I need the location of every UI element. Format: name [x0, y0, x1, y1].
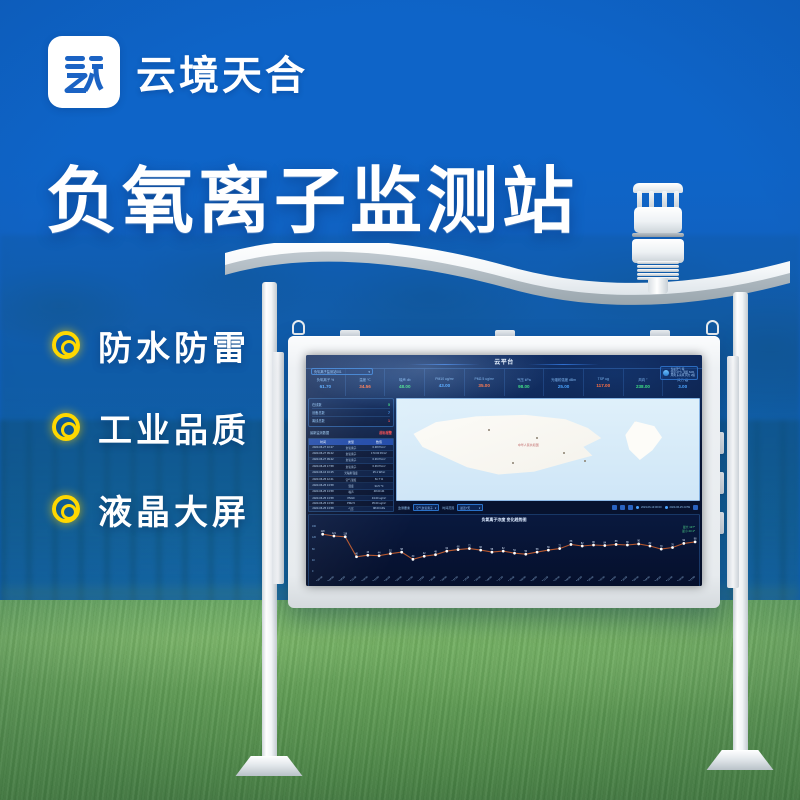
chart-point: [434, 553, 437, 556]
chart-point-label: 40: [355, 553, 358, 556]
weather-icon: [663, 370, 669, 376]
x-tick-label: 06-22 06:00: [482, 576, 493, 581]
more-button[interactable]: [693, 505, 698, 510]
range-select[interactable]: 最近7天 ▾: [457, 504, 483, 511]
chart-point-label: 44: [378, 551, 381, 554]
table-cell: 2023-06-26 17:58: [309, 464, 337, 469]
x-tick-label: 06-20 18:00: [414, 576, 425, 581]
metric-value: 117.00: [596, 383, 610, 388]
range-select-value: 最近7天: [460, 506, 470, 510]
table-cell: 2023-06-25 13:58: [309, 501, 337, 505]
x-tick-label: 06-19 04:00: [324, 576, 335, 581]
chart-point-label: 58: [491, 548, 494, 551]
metric-value: 25.00: [558, 384, 570, 389]
x-tick-label: 06-24 08:00: [584, 576, 595, 581]
table-cell: 2023-06-25 13:58: [309, 507, 337, 512]
chart-point-label: 30: [412, 555, 415, 558]
table-cell: 负氧离子: [337, 458, 365, 463]
table-cell: 2023-06-25 13:58: [309, 496, 337, 500]
metric-cell: 风向 ° 238.00: [624, 369, 664, 396]
table-cell: 0.36 P/cm³: [365, 464, 393, 469]
chart-point-label: 98: [694, 538, 697, 541]
table-cell: 负氧离子: [337, 464, 365, 469]
chart-point: [468, 547, 471, 550]
chart-point-label: 62: [446, 547, 449, 550]
chart-point-label: 88: [570, 540, 573, 543]
legend-entry: 2023-06-19 00:00: [636, 506, 661, 509]
chart-point: [513, 552, 516, 555]
metric-label: PM10 ug/m³: [435, 377, 453, 381]
table-cell: 43.00 ug/m³: [365, 496, 393, 500]
chart-point: [445, 550, 448, 553]
x-tick-label: 06-19 08:00: [335, 576, 346, 581]
metric-value: 238.00: [636, 384, 650, 389]
table-cell: 25.1 W/m²: [365, 471, 393, 476]
chart-point-label: 118: [343, 533, 347, 536]
chart-point: [615, 543, 618, 546]
table-body: 2023-06-27 10:27负氧离子0.38 P/cm³2023-06-27…: [309, 445, 393, 512]
x-tick-label: 06-20 00:00: [381, 576, 392, 581]
legend-label: 2023-06-25 23:59: [670, 506, 690, 509]
x-tick-label: 06-20 12:00: [403, 576, 414, 581]
metric-value: 43.00: [439, 383, 451, 388]
legend-swatch: [636, 506, 639, 509]
chart-point-label: 86: [592, 541, 595, 544]
feature-label: 工业品质: [98, 403, 250, 452]
table-cell: PM10: [337, 496, 365, 500]
chart-point-label: 76: [671, 543, 674, 546]
side-rail-left: [272, 352, 284, 584]
table-cell: 98.00 kPa: [365, 507, 393, 512]
chart-toolbar: 监测要素 空气负氧离子 ▾ 时间范围 最近7天 ▾: [396, 503, 700, 512]
chart-point: [649, 545, 652, 548]
table-cell: 噪声: [337, 490, 365, 495]
chart-point: [547, 549, 550, 552]
x-tick-label: 06-19 00:00: [313, 576, 324, 581]
metric-cell: PM2.5 ug/m³ 35.00: [465, 369, 505, 396]
device-stats: 在线数 5 设备总数 7 离线总数 1: [308, 398, 394, 427]
brand-name: 云境天合: [136, 43, 308, 101]
chart-point: [479, 549, 482, 552]
chart-point: [524, 553, 527, 556]
table-cell: 35.00 ug/m³: [365, 501, 393, 505]
dashboard-body: 在线数 5 设备总数 7 离线总数 1 最新监测数据: [306, 396, 702, 514]
sensor-ring: [632, 233, 684, 237]
metric-value: 34.56: [359, 384, 371, 389]
metric-value: 98.00: [518, 384, 530, 389]
legend-min-value: 最小 23.1*: [682, 529, 695, 533]
chevron-down-icon: ▾: [479, 506, 480, 510]
measurement-table: 时间 类型 数值 2023-06-27 10:27负氧离子0.38 P/cm³2…: [308, 438, 394, 512]
x-tick-label: 06-23 12:00: [539, 576, 550, 581]
lifting-eye-right: [706, 320, 719, 335]
table-cell: 空气湿度: [337, 477, 365, 482]
ring-bullet-icon: [52, 331, 80, 359]
x-tick-label: 06-24 12:00: [595, 576, 606, 581]
metric-label: 风向 °: [638, 377, 647, 382]
station-map[interactable]: 中华人民共和国: [396, 398, 700, 501]
metric-value: 3.00: [678, 384, 687, 389]
x-tick-label: 06-24 16:00: [606, 576, 617, 581]
chart-point: [694, 540, 697, 543]
chart-point: [558, 547, 561, 550]
chart-point-label: 58: [400, 548, 403, 551]
chart-point: [321, 533, 324, 536]
lcd-screen: 云平台 负氧离子监测站001 ▾ 当前天气 晴 温度 27℃ 湿度 64% 风向…: [306, 355, 702, 586]
chart-point: [536, 551, 539, 554]
x-tick-label: 06-25 16:00: [674, 576, 685, 581]
x-tick-label: 06-21 12:00: [448, 576, 459, 581]
table-cell: 2023-06-27 09:42: [309, 451, 337, 456]
x-tick-label: 06-23 00:00: [516, 576, 527, 581]
lcd-display-cabinet: 云平台 负氧离子监测站001 ▾ 当前天气 晴 温度 27℃ 湿度 64% 风向…: [288, 336, 720, 608]
radiation-shield-fins: [637, 261, 679, 279]
stat-row: 在线数 5: [312, 401, 390, 409]
table-cell: 2023-06-25 13:58: [309, 490, 337, 495]
chart-point: [603, 544, 606, 547]
monitoring-dashboard: 云平台 负氧离子监测站001 ▾ 当前天气 晴 温度 27℃ 湿度 64% 风向…: [306, 355, 702, 586]
chart-point-label: 70: [660, 545, 663, 548]
chart-point-label: 82: [581, 542, 584, 545]
ultrasonic-weather-sensor: [625, 183, 691, 291]
station-select-value: 负氧离子监测站001: [314, 369, 342, 374]
chart-point: [355, 555, 358, 558]
x-tick-label: 06-22 18:00: [505, 576, 516, 581]
x-tick-label: 06-19 12:00: [347, 576, 358, 581]
metric-label: PM2.5 ug/m³: [474, 377, 493, 381]
wave-canopy: [225, 243, 790, 305]
chart-point: [344, 535, 347, 538]
metric-label: 光辐射强度 dBm: [551, 377, 576, 382]
x-tick-label: 06-23 18:00: [550, 576, 561, 581]
table-cell: 光辐射强度: [337, 471, 365, 476]
chart-point: [491, 551, 494, 554]
chart-point-label: 58: [536, 548, 539, 551]
chart-point: [660, 548, 663, 551]
param-select[interactable]: 空气负氧离子 ▾: [413, 504, 439, 511]
x-tick-label: 06-19 20:00: [369, 576, 380, 581]
chart-point-label: 54: [513, 549, 516, 552]
weather-line-3: 风向 东南风 风力 2级: [671, 374, 695, 377]
chart-point: [366, 554, 369, 557]
stat-row: 设备总数 7: [312, 409, 390, 417]
lifting-eye-left: [292, 320, 305, 335]
x-tick-label: 06-25 04:00: [640, 576, 651, 581]
right-panel: 中华人民共和国 监测要素 空气负氧离子 ▾ 时间范围: [396, 398, 700, 512]
company-logo-mark: [48, 36, 120, 108]
dashboard-header: 云平台 负氧离子监测站001 ▾ 当前天气 晴 温度 27℃ 湿度 64% 风向…: [306, 355, 702, 368]
chart-point: [333, 535, 336, 538]
table-header-row: 最新监测数据 超标报警: [308, 429, 394, 436]
x-tick-label: 06-21 06:00: [437, 576, 448, 581]
chart-point-label: 86: [626, 541, 629, 544]
metric-value: 61.70: [320, 384, 332, 389]
x-tick-label: 06-25 08:00: [651, 576, 662, 581]
range-label: 时间范围: [442, 506, 454, 510]
table-cell: 48.00 db: [365, 490, 393, 495]
chart-point: [592, 544, 595, 547]
table-cell: 34.5 ℃: [365, 483, 393, 488]
chart-point: [389, 552, 392, 555]
stat-key: 在线数: [312, 402, 322, 407]
x-tick-label: 06-23 06:00: [527, 576, 538, 581]
chart-point: [570, 543, 573, 546]
x-tick-label: 06-24 00:00: [561, 576, 572, 581]
stat-key: 设备总数: [312, 410, 325, 415]
x-tick-label: 06-25 00:00: [629, 576, 640, 581]
x-tick-label: 06-22 00:00: [471, 576, 482, 581]
chart-point: [457, 548, 460, 551]
x-tick-label: 06-25 12:00: [663, 576, 674, 581]
chart-point-label: 66: [547, 546, 550, 549]
chart-point-label: 88: [615, 540, 618, 543]
stat-row: 离线总数 1: [312, 417, 390, 424]
table-cell: PM2.5: [337, 501, 365, 505]
table-cell: 2023-06-25 12:41: [309, 477, 337, 482]
chart-point: [502, 550, 505, 553]
param-label: 监测要素: [398, 506, 410, 510]
chart-point-label: 66: [479, 546, 482, 549]
table-cell: 0.38 P/cm³: [365, 445, 393, 450]
table-cell: 2023-06-27 09:42: [309, 458, 337, 463]
station-select[interactable]: 负氧离子监测站001 ▾: [311, 368, 373, 375]
feature-label: 防水防雷: [98, 321, 250, 370]
stat-value: 5: [388, 403, 390, 407]
chart-point-label: 92: [683, 539, 686, 542]
table-row[interactable]: 2023-06-25 13:58气压98.00 kPa: [309, 507, 393, 512]
x-tick-label: 06-24 20:00: [618, 576, 629, 581]
x-tick-label: 06-20 06:00: [392, 576, 403, 581]
chart-point-label: 128: [321, 530, 326, 533]
chart-point: [671, 546, 674, 549]
metric-cell: PM10 ug/m³ 43.00: [425, 369, 465, 396]
sensor-upper-body: [634, 207, 682, 233]
chart-point-label: 46: [366, 551, 369, 554]
x-tick-label: 06-22 12:00: [493, 576, 504, 581]
map-country-label: 中华人民共和国: [518, 443, 539, 447]
table-cell: 0.36 P/cm³: [365, 458, 393, 463]
feature-item-industrial: 工业品质: [52, 404, 250, 450]
settings-button[interactable]: [628, 505, 633, 510]
page-title: 负氧离子监测站: [46, 142, 578, 247]
stat-value: 1: [388, 419, 390, 423]
chart-point: [378, 554, 381, 557]
ring-bullet-icon: [52, 495, 80, 523]
table-cell: 温度: [337, 483, 365, 488]
chart-point-label: 52: [389, 549, 392, 552]
metric-label: 噪声 db: [399, 377, 411, 382]
metric-label: 负氧离子 %: [317, 377, 335, 382]
chart-point-label: 90: [637, 540, 640, 543]
chart-point: [423, 555, 426, 558]
dashboard-title: 云平台: [306, 357, 702, 366]
table-cell: 173.00 P/cm³: [365, 451, 393, 456]
table-cell: 气压: [337, 507, 365, 512]
chart-point-label: 82: [649, 542, 652, 545]
table-cell: 2023-06-27 10:27: [309, 445, 337, 450]
table-cell: 61.7 %: [365, 477, 393, 482]
table-section-title: 最新监测数据: [310, 430, 329, 435]
stat-value: 7: [388, 411, 390, 415]
weather-badge: 当前天气 晴 温度 27℃ 湿度 64% 风向 东南风 风力 2级: [660, 366, 698, 380]
metric-cell: 噪声 db 48.00: [385, 369, 425, 396]
side-rail-right: [727, 356, 739, 588]
feature-item-waterproof: 防水防雷: [52, 322, 250, 368]
legend-label: 2023-06-19 00:00: [641, 506, 661, 509]
refresh-button[interactable]: [620, 505, 625, 510]
chart-plot-area: 12806-19 00:0012106-19 04:0011806-19 08:…: [309, 523, 699, 581]
chart-point-label: 50: [525, 550, 528, 553]
x-tick-label: 06-21 18:00: [460, 576, 471, 581]
chart-point-label: 42: [423, 552, 426, 555]
brand-header: 云境天合: [48, 36, 308, 108]
chart-point-label: 48: [434, 550, 437, 553]
chart-point-label: 72: [558, 544, 561, 547]
param-select-value: 空气负氧离子: [416, 506, 433, 510]
table-cell: 2023-06-25 13:58: [309, 483, 337, 488]
chart-point: [400, 551, 403, 554]
chart-point-label: 62: [502, 547, 505, 550]
x-tick-label: 06-25 23:59: [685, 576, 696, 581]
ring-bullet-icon: [52, 413, 80, 441]
chart-point-label: 84: [604, 541, 607, 544]
metric-cell: 气压 kPa 98.00: [505, 369, 545, 396]
chart-point-label: 72: [468, 544, 471, 547]
table-cell: 2023-06-16 16:25: [309, 471, 337, 476]
alarm-badge: 超标报警: [379, 430, 392, 435]
chart-point: [682, 542, 685, 545]
x-tick-label: 06-19 16:00: [358, 576, 369, 581]
metric-cell: 光辐射强度 dBm 25.00: [544, 369, 584, 396]
chart-point: [626, 544, 629, 547]
chevron-down-icon: ▾: [368, 370, 370, 374]
export-button[interactable]: [612, 505, 617, 510]
sensor-lower-body: [632, 239, 684, 263]
chart-point: [581, 545, 584, 548]
metric-value: 35.00: [478, 383, 490, 388]
table-cell: 负氧离子: [337, 451, 365, 456]
chart-point-label: 121: [332, 532, 337, 535]
chevron-down-icon: ▾: [435, 506, 436, 510]
chart-point: [412, 558, 415, 561]
metric-label: TSP ug: [598, 377, 609, 381]
chart-point-label: 68: [457, 545, 460, 548]
trend-chart: 负氧离子浓度 变化趋势图 16012080400 12806-19 00:001…: [308, 514, 700, 586]
chart-point: [637, 543, 640, 546]
left-panel: 在线数 5 设备总数 7 离线总数 1 最新监测数据: [308, 398, 394, 512]
legend-entry: 2023-06-25 23:59: [665, 506, 690, 509]
legend-swatch: [665, 506, 668, 509]
x-tick-label: 06-24 04:00: [572, 576, 583, 581]
landmass-shape-east: [621, 421, 669, 461]
stat-key: 离线总数: [312, 418, 325, 423]
sensor-stem: [648, 278, 668, 294]
x-tick-label: 06-21 00:00: [426, 576, 437, 581]
metric-cell: TSP ug 117.00: [584, 369, 624, 396]
metric-label: 温度 ℃: [359, 377, 371, 382]
metric-value: 48.00: [399, 384, 411, 389]
feature-item-lcd: 液晶大屏: [52, 486, 250, 532]
metric-label: 气压 kPa: [517, 377, 531, 382]
feature-label: 液晶大屏: [98, 485, 250, 534]
feature-list: 防水防雷 工业品质 液晶大屏: [52, 322, 250, 568]
table-cell: 负氧离子: [337, 445, 365, 450]
